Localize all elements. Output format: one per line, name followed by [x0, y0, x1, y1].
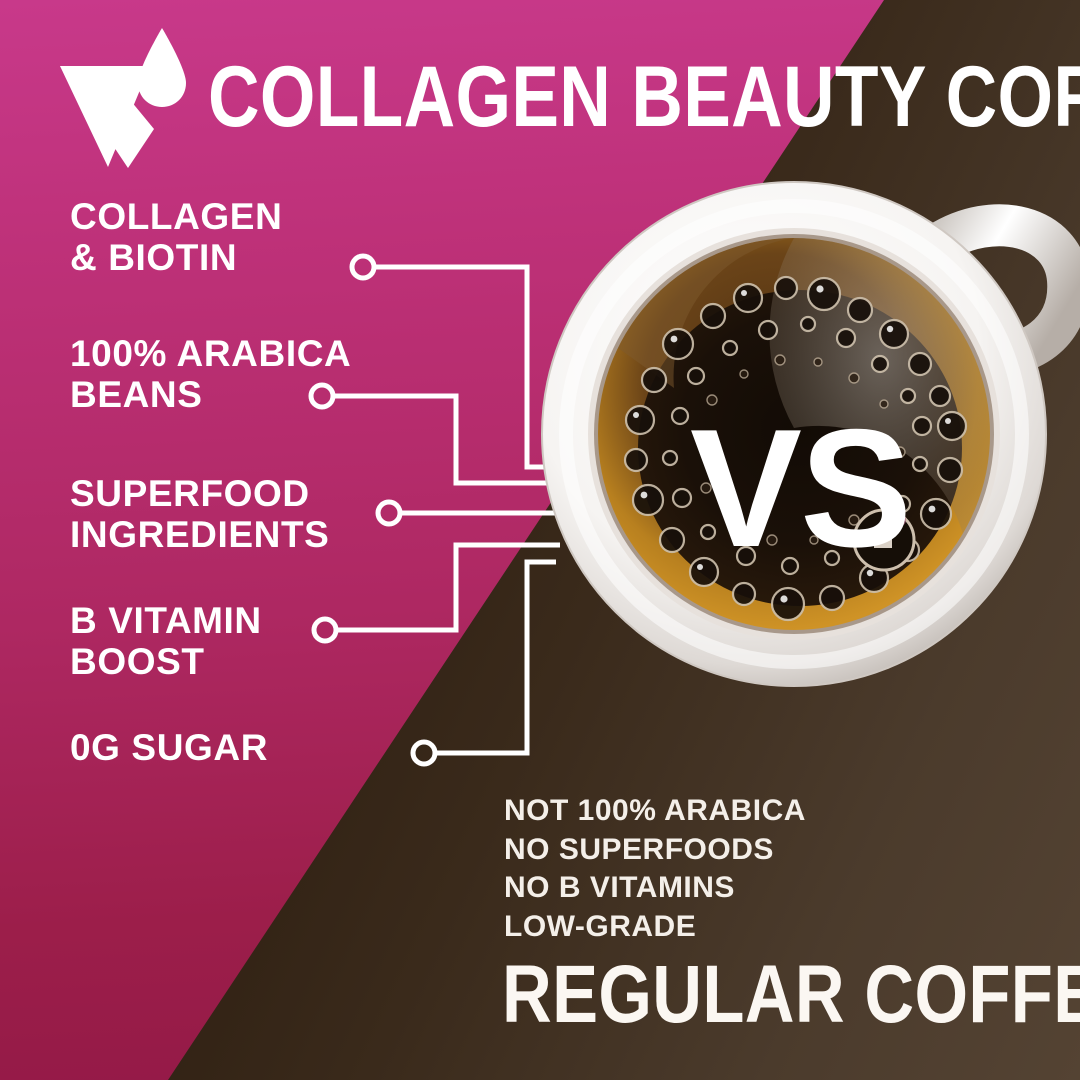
vs-label: VS: [650, 398, 950, 578]
regular-coffee-title: REGULAR COFFEE: [502, 952, 972, 1038]
con-item-no-b-vitamins: NO B VITAMINS: [504, 869, 924, 908]
con-item-no-superfoods: NO SUPERFOODS: [504, 831, 924, 870]
con-item-low-grade: LOW-GRADE: [504, 908, 924, 947]
con-item-not-arabica: NOT 100% ARABICA: [504, 792, 924, 831]
feature-label-arabica-beans: 100% ARABICA BEANS: [70, 333, 351, 416]
feature-label-superfood-ingredients: SUPERFOOD INGREDIENTS: [70, 473, 329, 556]
regular-coffee-cons-list: NOT 100% ARABICA NO SUPERFOODS NO B VITA…: [504, 792, 924, 947]
page-title: COLLAGEN BEAUTY COFFEE: [208, 44, 889, 150]
poster-canvas: COLLAGEN BEAUTY COFFEE COLLAGEN & BIOTIN…: [0, 0, 1080, 1080]
feature-label-b-vitamin-boost: B VITAMIN BOOST: [70, 600, 262, 683]
feature-label-collagen-biotin: COLLAGEN & BIOTIN: [70, 196, 282, 279]
v-droplet-logo-icon: [58, 26, 186, 170]
feature-label-zero-sugar: 0g SUGAR: [70, 727, 268, 768]
